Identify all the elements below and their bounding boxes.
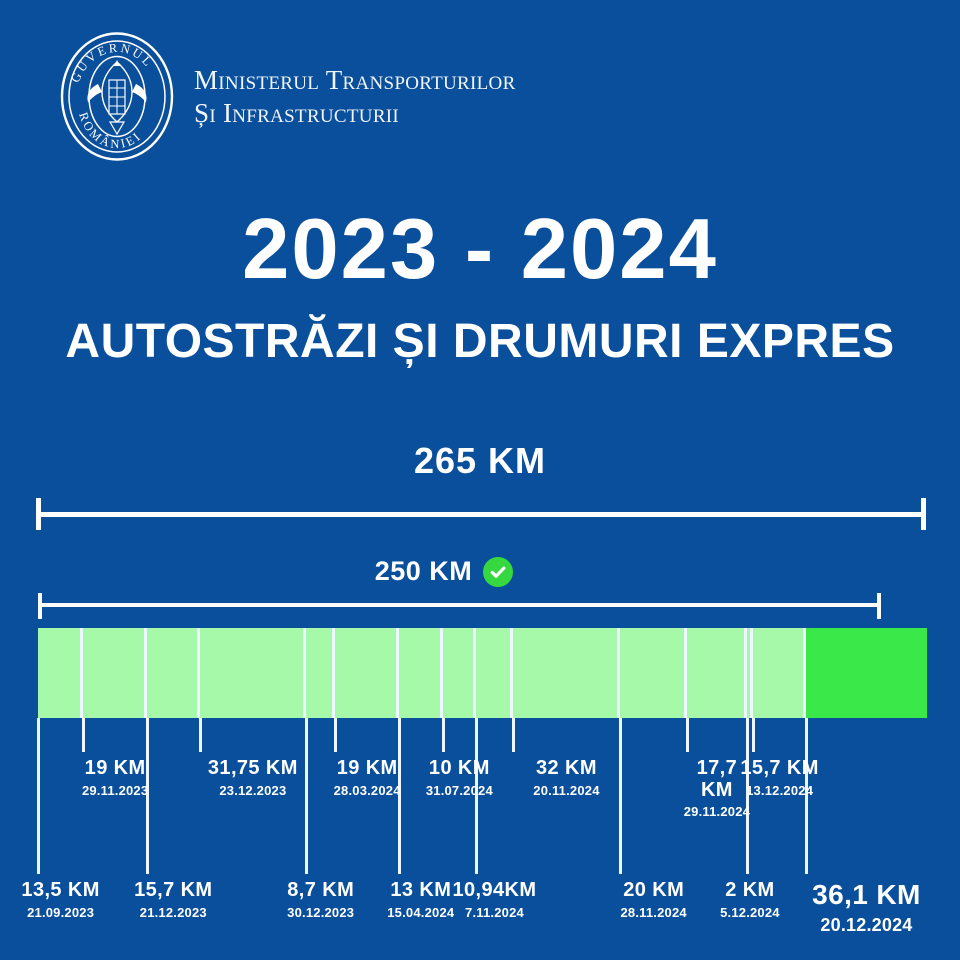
- segment-date: 29.11.2024: [665, 805, 769, 819]
- svg-text:ROMÂNIEI: ROMÂNIEI: [76, 110, 144, 151]
- leader-line: [619, 718, 622, 874]
- segment-km-value: 10 KM: [407, 758, 511, 780]
- segment-label: 15,7 KM13.12.2024: [728, 758, 832, 798]
- segment-label: 2 KM5.12.2024: [698, 880, 802, 920]
- segment-label: 36,1 KM20.12.2024: [791, 880, 941, 936]
- romania-government-crest-icon: GUVERNUL ROMÂNIEI: [58, 30, 176, 163]
- header: GUVERNUL ROMÂNIEI Ministerul Transportur…: [58, 30, 516, 163]
- segment-km-value: 31,75 KM: [201, 758, 305, 780]
- bar-segment: [399, 628, 443, 718]
- bar-segment: [38, 628, 83, 718]
- segment-km-value: 32 KM: [514, 758, 618, 780]
- total-km-label: 265 KM: [0, 440, 960, 482]
- segment-label: 31,75 KM23.12.2023: [201, 758, 305, 798]
- leader-line: [305, 718, 308, 874]
- bracket250-cap-right: [877, 593, 881, 619]
- bar-segment: [306, 628, 335, 718]
- completed-km-label: 250 KM: [375, 556, 473, 587]
- bracket-250km: [38, 593, 881, 619]
- bar-segment: [200, 628, 306, 718]
- segment-label: 20 KM28.11.2024: [602, 880, 706, 920]
- bar-segment: [747, 628, 754, 718]
- bracket250-line: [38, 603, 881, 607]
- bracket-265km: [36, 498, 926, 530]
- segment-km-value: 19 KM: [63, 758, 167, 780]
- leader-line: [752, 718, 755, 752]
- segment-date: 20.12.2024: [791, 916, 941, 935]
- segment-date: 7.11.2024: [442, 906, 546, 920]
- bar-segment: [806, 628, 927, 718]
- segment-date: 23.12.2023: [201, 784, 305, 798]
- segment-label: 15,7 KM21.12.2023: [121, 880, 225, 920]
- segment-label: 8,7 KM30.12.2023: [269, 880, 373, 920]
- leader-line: [442, 718, 445, 752]
- segment-km-value: 15,7 KM: [728, 758, 832, 780]
- leader-line: [199, 718, 202, 752]
- segment-date: 20.11.2024: [514, 784, 618, 798]
- bar-segment: [147, 628, 200, 718]
- bar-segment: [513, 628, 620, 718]
- segment-date: 21.12.2023: [121, 906, 225, 920]
- leader-line: [512, 718, 515, 752]
- page-subtitle: AUTOSTRĂZI ȘI DRUMURI EXPRES: [0, 318, 960, 366]
- segment-km-value: 2 KM: [698, 880, 802, 902]
- bar-segment: [335, 628, 399, 718]
- segment-date: 13.12.2024: [728, 784, 832, 798]
- bar-segment: [687, 628, 746, 718]
- leader-line: [334, 718, 337, 752]
- check-circle-icon: [483, 557, 513, 587]
- bar-segment: [753, 628, 806, 718]
- progress-bar: [38, 628, 927, 718]
- segment-date: 21.09.2023: [9, 906, 113, 920]
- segment-date: 5.12.2024: [698, 906, 802, 920]
- segment-km-value: 13,5 KM: [9, 880, 113, 902]
- leader-line: [82, 718, 85, 752]
- segment-label: 32 KM20.11.2024: [514, 758, 618, 798]
- segment-label: 19 KM29.11.2023: [63, 758, 167, 798]
- segment-label: 13,5 KM21.09.2023: [9, 880, 113, 920]
- bar-segment: [476, 628, 513, 718]
- leader-line: [37, 718, 40, 874]
- infographic-canvas: GUVERNUL ROMÂNIEI Ministerul Transportur…: [0, 0, 960, 960]
- ministry-line-2: și Infrastructurii: [194, 97, 516, 130]
- leader-line: [686, 718, 689, 752]
- ministry-name: Ministerul Transporturilor și Infrastruc…: [194, 64, 516, 130]
- ministry-line-1: Ministerul Transporturilor: [194, 64, 516, 97]
- segment-km-value: 15,7 KM: [121, 880, 225, 902]
- segment-date: 31.07.2024: [407, 784, 511, 798]
- segment-km-value: 20 KM: [602, 880, 706, 902]
- segment-label: 19 KM28.03.2024: [315, 758, 419, 798]
- segment-date: 30.12.2023: [269, 906, 373, 920]
- bar-segment: [83, 628, 147, 718]
- bar-segment: [620, 628, 687, 718]
- segment-km-value: 8,7 KM: [269, 880, 373, 902]
- segment-date: 28.11.2024: [602, 906, 706, 920]
- segment-km-value: 19 KM: [315, 758, 419, 780]
- segment-km-value: 36,1 KM: [791, 880, 941, 910]
- completed-km-label-group: 250 KM: [0, 556, 888, 587]
- bracket-line: [36, 512, 926, 517]
- segment-date: 28.03.2024: [315, 784, 419, 798]
- segment-date: 29.11.2023: [63, 784, 167, 798]
- years-title: 2023 - 2024: [0, 207, 960, 292]
- segment-label: 10 KM31.07.2024: [407, 758, 511, 798]
- bracket-cap-right: [921, 498, 926, 530]
- segment-label: 10,94KM7.11.2024: [442, 880, 546, 920]
- bar-segment: [443, 628, 477, 718]
- segment-km-value: 10,94KM: [442, 880, 546, 902]
